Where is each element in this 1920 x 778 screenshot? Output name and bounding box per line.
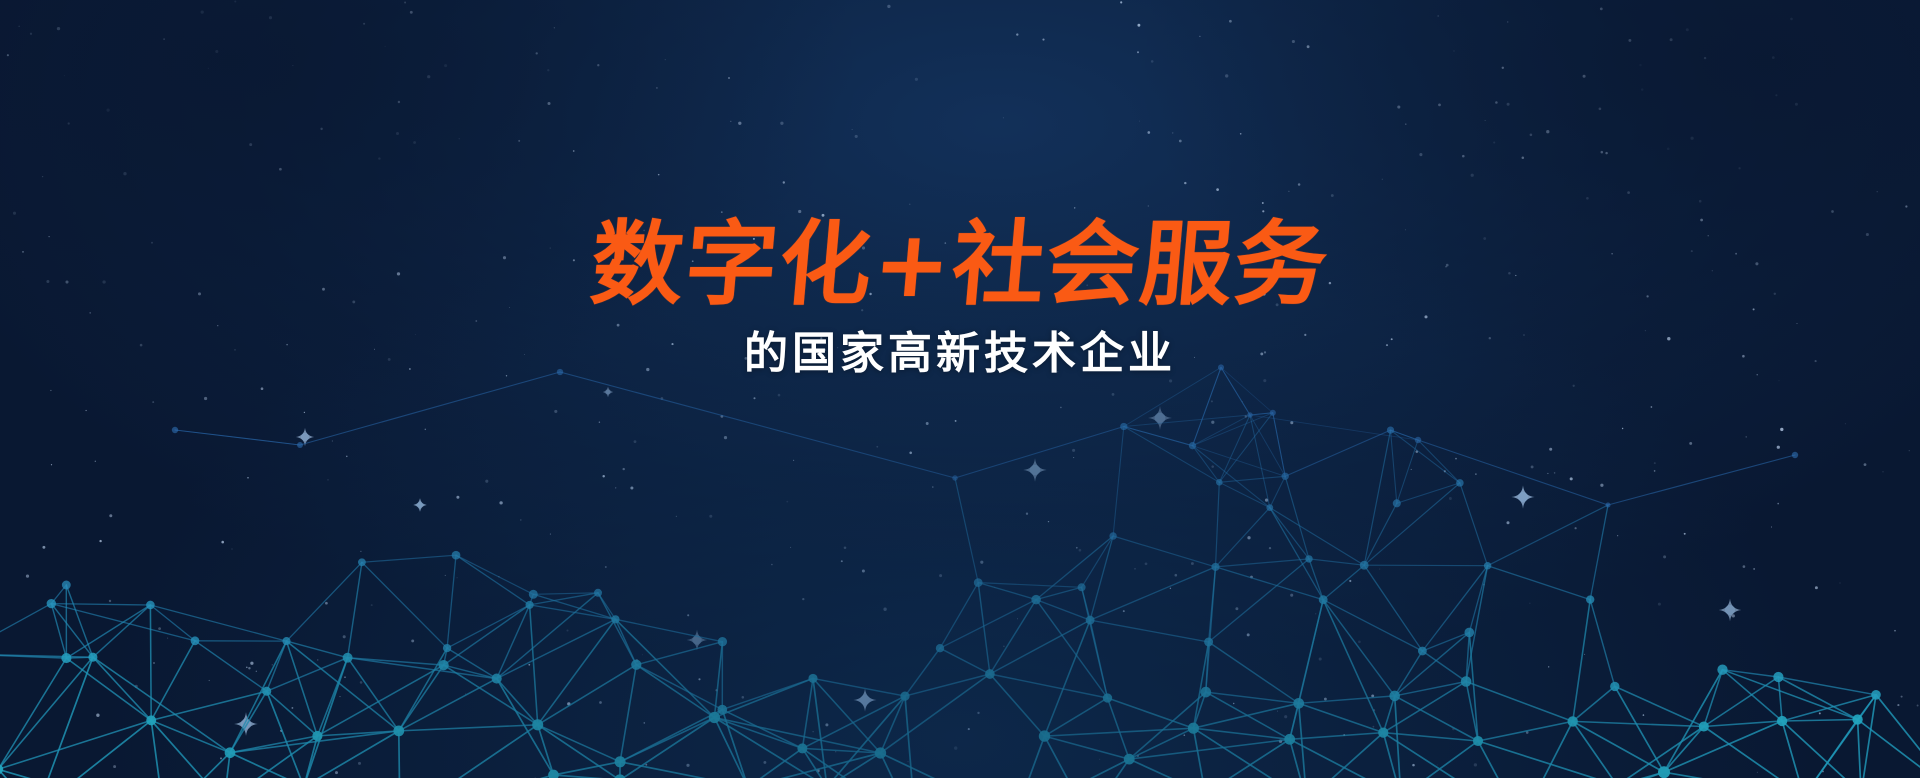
background-gradient bbox=[0, 0, 1920, 778]
banner-subline: 的国家高新技术企业 bbox=[0, 330, 1920, 378]
hero-banner: 数字化+社会服务 的国家高新技术企业 bbox=[0, 0, 1920, 778]
banner-headline: 数字化+社会服务 bbox=[0, 218, 1920, 312]
banner-text-block: 数字化+社会服务 的国家高新技术企业 bbox=[0, 218, 1920, 378]
